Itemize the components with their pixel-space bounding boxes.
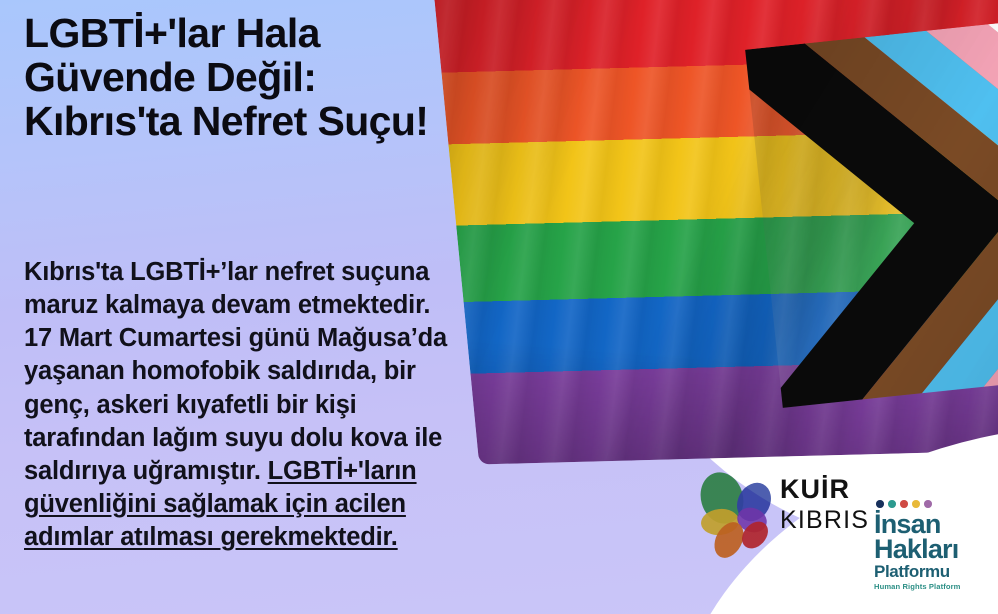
insan-haklari-platformu-logo[interactable]: İnsan Hakları Platformu Human Rights Pla… (874, 500, 998, 606)
progress-chevron (745, 12, 998, 408)
teal-dot-icon (888, 500, 896, 508)
body-paragraph: Kıbrıs'ta LGBTİ+’lar nefret suçuna maruz… (24, 256, 454, 554)
ihp-wordmark-tagline: Human Rights Platform (874, 583, 998, 590)
red-dot-icon (900, 500, 908, 508)
kuir-wordmark-line1: KUİR (780, 476, 870, 503)
purple-dot-icon (924, 500, 932, 508)
butterfly-icon (684, 464, 788, 568)
progress-pride-flag-image (447, 0, 998, 466)
kuir-wordmark: KUİR KIBRIS (780, 476, 870, 536)
chevron-shading (745, 12, 998, 408)
ihp-wordmark-line2: Hakları (874, 537, 998, 563)
yellow-dot-icon (912, 500, 920, 508)
poster-canvas: LGBTİ+'lar Hala Güvende Değil: Kıbrıs'ta… (0, 0, 998, 614)
page-title: LGBTİ+'lar Hala Güvende Değil: Kıbrıs'ta… (24, 12, 454, 144)
navy-dot-icon (876, 500, 884, 508)
dots-row-icon (876, 500, 998, 508)
body-paragraph-plain: Kıbrıs'ta LGBTİ+’lar nefret suçuna maruz… (24, 258, 447, 485)
kuir-kibris-logo[interactable]: KUİR KIBRIS (684, 462, 864, 570)
ihp-wordmark-line3: Platformu (874, 564, 998, 580)
kuir-wordmark-line2: KIBRIS (780, 506, 870, 536)
